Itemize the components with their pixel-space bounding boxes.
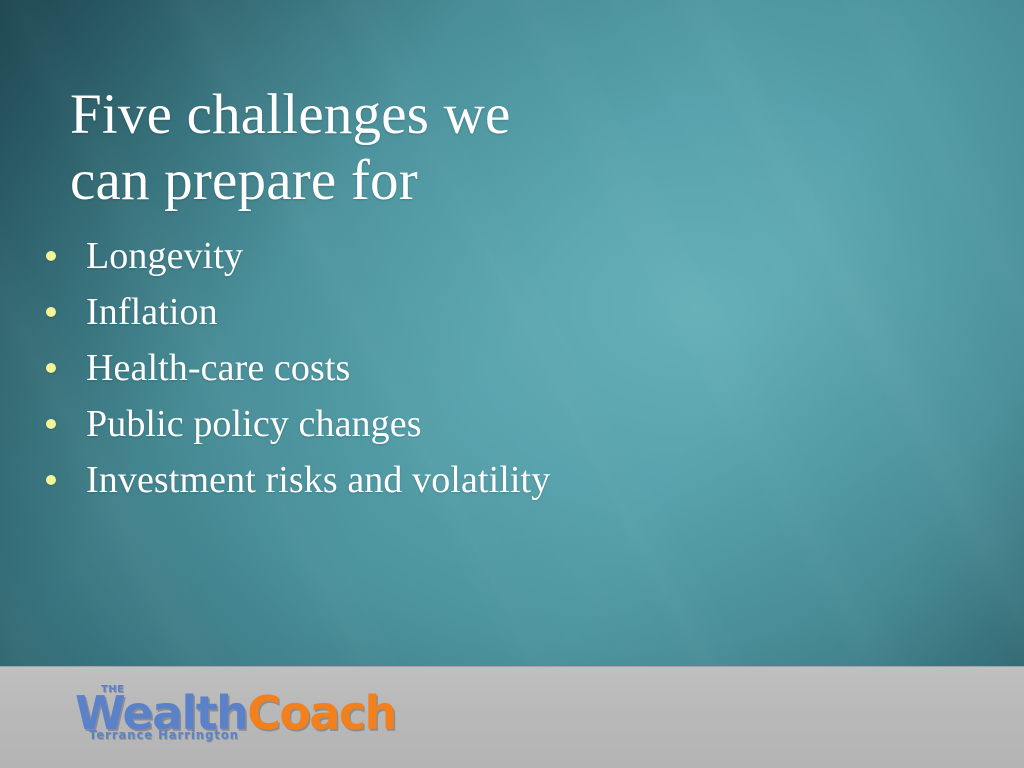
bullet-label: Inflation: [86, 290, 218, 334]
bullet-label: Health-care costs: [86, 346, 350, 390]
bullet-label: Public policy changes: [86, 402, 422, 446]
bullet-dot-icon: [46, 419, 56, 429]
logo-word-the: THE: [101, 685, 124, 695]
presentation-slide: Five challenges we can prepare for Longe…: [0, 0, 1024, 768]
wealth-coach-logo: WealthCoach THE Terrance Harrington: [75, 688, 375, 750]
slide-title: Five challenges we can prepare for: [70, 82, 770, 214]
slide-title-line-2: can prepare for: [70, 148, 770, 214]
bullet-dot-icon: [46, 251, 56, 261]
logo-word-coach: Coach: [247, 686, 395, 740]
bullet-dot-icon: [46, 475, 56, 485]
list-item: Public policy changes: [34, 396, 874, 452]
logo-subtitle-name: Terrance Harrington: [89, 728, 239, 742]
bullet-dot-icon: [46, 307, 56, 317]
bullet-label: Longevity: [86, 234, 243, 278]
list-item: Health-care costs: [34, 340, 874, 396]
bullet-dot-icon: [46, 363, 56, 373]
slide-bullet-list: Longevity Inflation Health-care costs Pu…: [34, 228, 874, 508]
list-item: Inflation: [34, 284, 874, 340]
slide-title-line-1: Five challenges we: [70, 82, 770, 148]
list-item: Investment risks and volatility: [34, 452, 874, 508]
list-item: Longevity: [34, 228, 874, 284]
bullet-label: Investment risks and volatility: [86, 458, 550, 502]
